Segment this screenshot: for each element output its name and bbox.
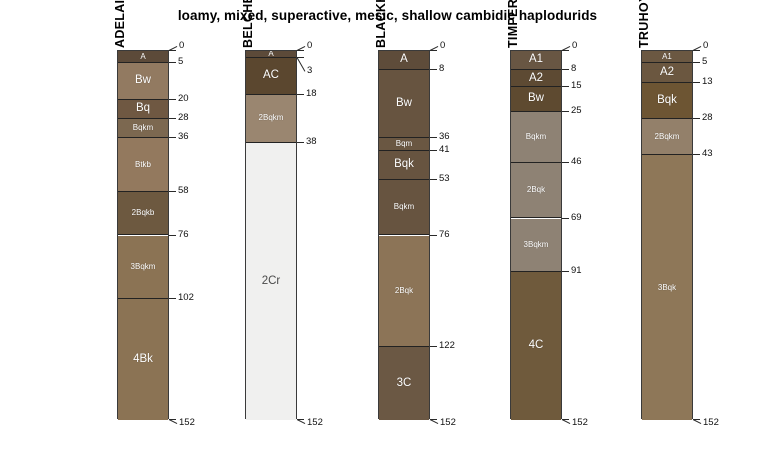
horizon-a1[interactable]: A1: [511, 51, 561, 70]
site-name-blackhawk: BLACKHAWK: [374, 0, 388, 48]
horizon-label: Btkb: [135, 161, 151, 169]
depth-tick: [430, 150, 437, 151]
depth-label: 152: [307, 418, 323, 428]
depth-leader: [297, 58, 306, 72]
site-name-timper: TIMPER: [506, 0, 520, 48]
horizon-label: Bqk: [657, 95, 677, 107]
depth-label: 13: [702, 77, 713, 87]
horizon-label: Bw: [396, 98, 412, 110]
horizon-bqm[interactable]: Bqm: [379, 138, 429, 150]
horizon-2bqk[interactable]: 2Bqk: [379, 236, 429, 348]
depth-tick: [430, 69, 437, 70]
horizon-2bqkm[interactable]: 2Bqkm: [642, 119, 692, 155]
depth-label: 41: [439, 145, 450, 155]
horizon-bqkm[interactable]: Bqkm: [379, 180, 429, 236]
horizon-label: Bw: [135, 75, 151, 87]
site-name-truhoy: TRUHOY: [637, 0, 651, 48]
depth-tick: [169, 298, 176, 299]
depth-label: 5: [702, 57, 707, 67]
depth-label: 0: [307, 41, 312, 51]
depth-label: 0: [179, 41, 184, 51]
horizon-label: 2Cr: [262, 276, 281, 288]
horizon-2bqkb[interactable]: 2Bqkb: [118, 192, 168, 236]
profile-column-timper[interactable]: A1A2BwBqkm2Bqk3Bqkm4C: [510, 50, 562, 419]
horizon-label: 3C: [397, 378, 412, 390]
depth-label: 18: [306, 89, 317, 99]
horizon-label: 2Bqk: [527, 186, 545, 194]
horizon-label: 2Bqk: [395, 287, 413, 295]
depth-label: 46: [571, 157, 582, 167]
horizon-btkb[interactable]: Btkb: [118, 138, 168, 191]
depth-label: 36: [178, 132, 189, 142]
depth-label: 38: [306, 137, 317, 147]
depth-label: 28: [702, 113, 713, 123]
depth-tick: [693, 82, 700, 83]
depth-label: 25: [571, 106, 582, 116]
horizon-label: 2Bqkm: [259, 114, 284, 122]
horizon-4c[interactable]: 4C: [511, 272, 561, 420]
horizon-bqkm[interactable]: Bqkm: [118, 119, 168, 138]
depth-label: 15: [571, 81, 582, 91]
horizon-bqk[interactable]: Bqk: [379, 151, 429, 180]
depth-label: 152: [572, 418, 588, 428]
depth-label: 20: [178, 94, 189, 104]
depth-label: 76: [439, 230, 450, 240]
depth-tick: [169, 118, 176, 119]
depth-tick: [693, 62, 700, 63]
depth-tick: [430, 179, 437, 180]
horizon-2bqk[interactable]: 2Bqk: [511, 163, 561, 219]
depth-label: 69: [571, 213, 582, 223]
horizon-bqkm[interactable]: Bqkm: [511, 112, 561, 163]
horizon-a[interactable]: A: [246, 51, 296, 58]
horizon-3bqkm[interactable]: 3Bqkm: [118, 236, 168, 299]
horizon-label: 4C: [529, 340, 544, 352]
horizon-label: 2Bqkm: [655, 133, 680, 141]
horizon-bw[interactable]: Bw: [118, 63, 168, 99]
profile-column-blackhawk[interactable]: ABwBqmBqkBqkm2Bqk3C: [378, 50, 430, 419]
depth-tick: [169, 191, 176, 192]
depth-tick: [562, 111, 569, 112]
depth-label: 102: [178, 293, 194, 303]
profile-column-adelaide[interactable]: ABwBqBqkmBtkb2Bqkb3Bqkm4Bk: [117, 50, 169, 419]
depth-label: 91: [571, 266, 582, 276]
horizon-label: Bqk: [394, 159, 414, 171]
horizon-label: A2: [660, 67, 674, 79]
horizon-4bk[interactable]: 4Bk: [118, 299, 168, 420]
depth-tick: [430, 346, 437, 347]
depth-tick: [430, 137, 437, 138]
depth-tick: [297, 94, 304, 95]
horizon-2bqkm[interactable]: 2Bqkm: [246, 95, 296, 144]
horizon-bq[interactable]: Bq: [118, 100, 168, 119]
horizon-label: A1: [529, 54, 543, 66]
horizon-label: Bqkm: [394, 203, 414, 211]
depth-label: 53: [439, 174, 450, 184]
depth-label: 0: [440, 41, 445, 51]
depth-label: 5: [178, 57, 183, 67]
horizon-label: 2Bqkb: [132, 209, 155, 217]
site-name-belcher: BELCHER: [241, 0, 255, 48]
depth-label: 152: [703, 418, 719, 428]
site-name-adelaide: ADELAIDE: [113, 0, 127, 48]
horizon-2cr[interactable]: 2Cr: [246, 143, 296, 420]
horizon-label: 3Bqk: [658, 284, 676, 292]
depth-tick: [693, 154, 700, 155]
depth-label: 152: [179, 418, 195, 428]
depth-tick: [562, 162, 569, 163]
profile-column-truhoy[interactable]: A1A2Bqk2Bqkm3Bqk: [641, 50, 693, 419]
horizon-label: A1: [662, 53, 672, 61]
horizon-label: Bqkm: [526, 133, 546, 141]
depth-tick: [430, 235, 437, 236]
horizon-a[interactable]: A: [379, 51, 429, 70]
horizon-label: Bqkm: [133, 124, 153, 132]
depth-tick: [169, 235, 176, 236]
depth-label: 122: [439, 341, 455, 351]
depth-tick: [693, 118, 700, 119]
horizon-3bqk[interactable]: 3Bqk: [642, 155, 692, 420]
horizon-label: Bq: [136, 103, 150, 115]
horizon-bw[interactable]: Bw: [511, 87, 561, 111]
horizon-3bqkm[interactable]: 3Bqkm: [511, 219, 561, 272]
horizon-bw[interactable]: Bw: [379, 70, 429, 138]
depth-label: 28: [178, 113, 189, 123]
horizon-bqk[interactable]: Bqk: [642, 83, 692, 119]
depth-label: 0: [572, 41, 577, 51]
horizon-label: 3Bqkm: [131, 263, 156, 271]
horizon-label: Bqm: [396, 140, 412, 148]
depth-label: 152: [440, 418, 456, 428]
horizon-label: A: [400, 54, 408, 66]
depth-label: 76: [178, 230, 189, 240]
horizon-a1[interactable]: A1: [642, 51, 692, 63]
horizon-a2[interactable]: A2: [642, 63, 692, 82]
depth-tick: [297, 142, 304, 143]
horizon-label: A2: [529, 73, 543, 85]
depth-label: 36: [439, 132, 450, 142]
horizon-a2[interactable]: A2: [511, 70, 561, 87]
depth-tick: [562, 218, 569, 219]
depth-label: 0: [703, 41, 708, 51]
depth-label: 8: [439, 64, 444, 74]
horizon-3c[interactable]: 3C: [379, 347, 429, 420]
profile-column-belcher[interactable]: AAC2Bqkm2Cr: [245, 50, 297, 419]
horizon-ac[interactable]: AC: [246, 58, 296, 94]
depth-tick: [562, 69, 569, 70]
depth-label: 58: [178, 186, 189, 196]
depth-tick: [169, 99, 176, 100]
horizon-label: 4Bk: [133, 354, 153, 366]
depth-tick: [169, 137, 176, 138]
depth-tick: [562, 86, 569, 87]
horizon-a[interactable]: A: [118, 51, 168, 63]
horizon-label: A: [140, 53, 145, 61]
horizon-label: Bw: [528, 93, 544, 105]
depth-label: 8: [571, 64, 576, 74]
horizon-label: 3Bqkm: [524, 241, 549, 249]
depth-tick: [562, 271, 569, 272]
depth-label: 43: [702, 149, 713, 159]
horizon-label: AC: [263, 70, 279, 82]
depth-tick: [169, 62, 176, 63]
depth-label: 3: [307, 66, 312, 76]
horizon-label: A: [268, 51, 273, 58]
